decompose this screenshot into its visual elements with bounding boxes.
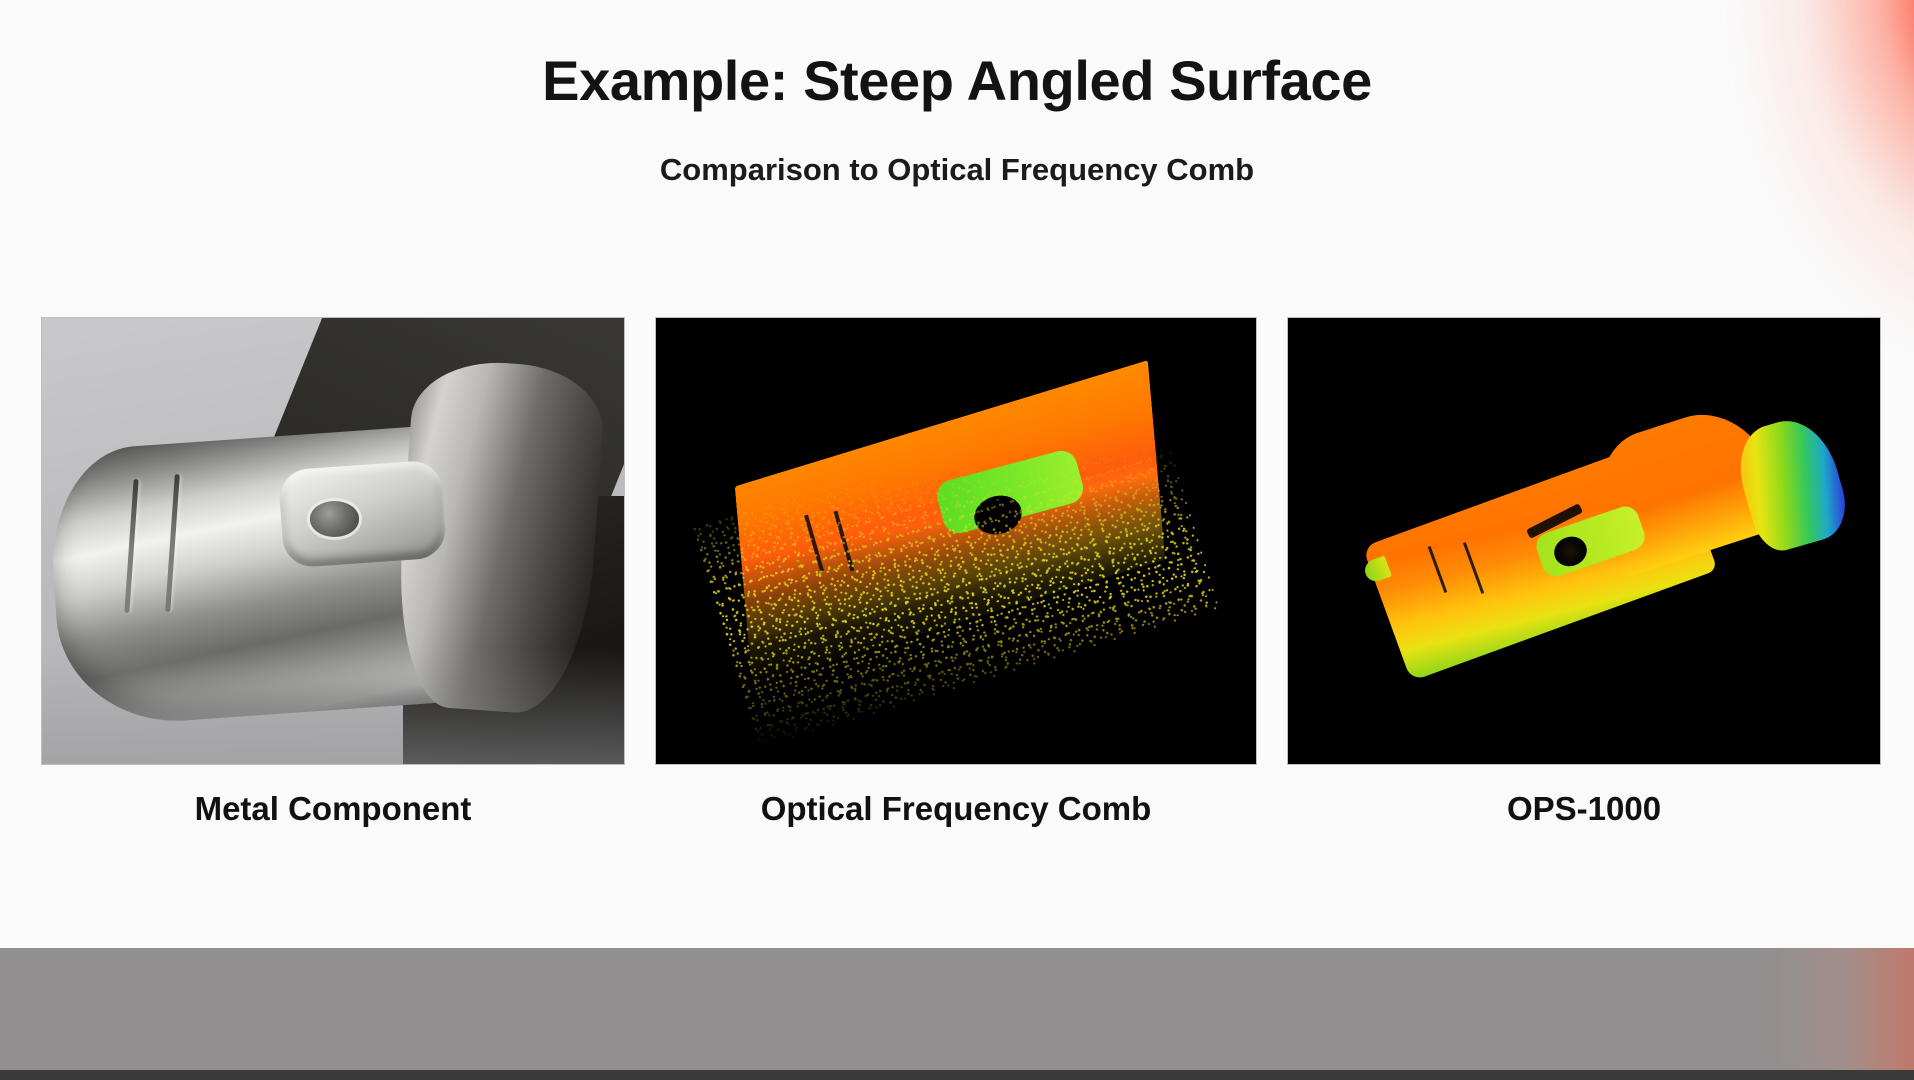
caption-metal-component: Metal Component	[42, 790, 624, 828]
panel-ops-1000	[1288, 318, 1880, 764]
photo-ground-shadow	[42, 648, 624, 764]
bottom-edge-strip	[0, 1070, 1914, 1080]
photo-embossed-pocket	[277, 460, 446, 569]
panel-row	[0, 318, 1914, 764]
metal-component-photo	[42, 318, 624, 764]
panel-metal-component	[42, 318, 624, 764]
caption-ops-1000: OPS-1000	[1288, 790, 1880, 828]
bottom-bar	[0, 948, 1914, 1070]
caption-optical-frequency-comb: Optical Frequency Comb	[656, 790, 1256, 828]
photo-through-hole	[310, 501, 359, 537]
ofc-point-cloud	[656, 318, 1256, 764]
panel-optical-frequency-comb	[656, 318, 1256, 764]
slide-subtitle: Comparison to Optical Frequency Comb	[0, 152, 1914, 188]
ops-point-cloud	[1288, 318, 1880, 764]
bottom-bar-glow	[1764, 948, 1914, 1070]
slide-root: Example: Steep Angled Surface Comparison…	[0, 0, 1914, 1080]
slide-title: Example: Steep Angled Surface	[0, 52, 1914, 111]
